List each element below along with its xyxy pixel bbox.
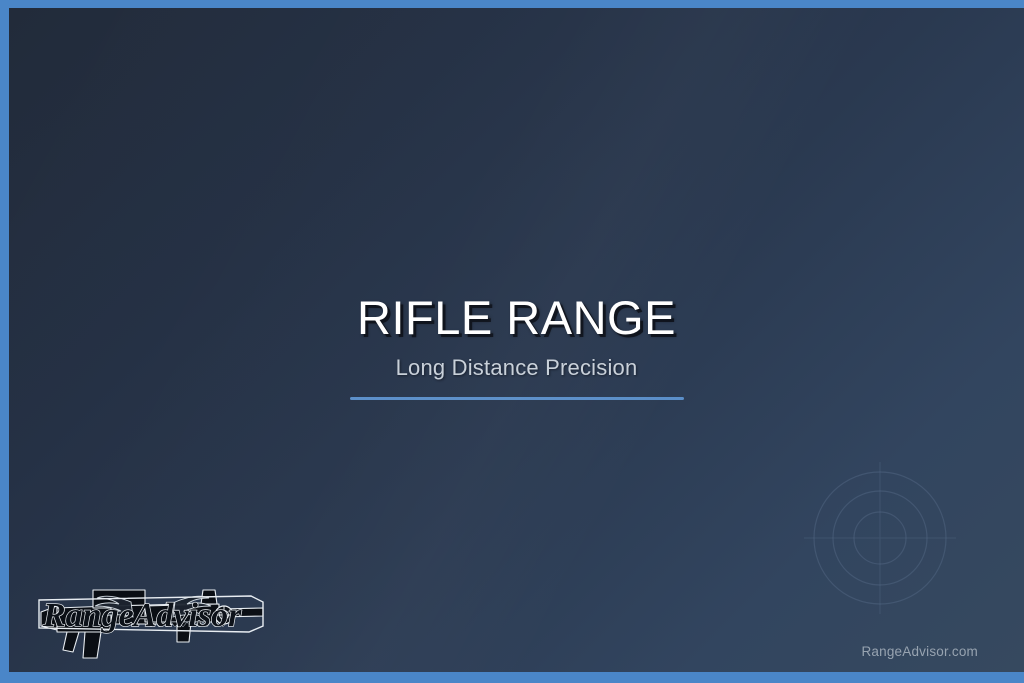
slide-canvas: RIFLE RANGE Long Distance Precision bbox=[9, 8, 1024, 672]
page-title: RIFLE RANGE bbox=[9, 293, 1024, 343]
presentation-slide: RIFLE RANGE Long Distance Precision bbox=[0, 0, 1024, 683]
footer-url: RangeAdvisor.com bbox=[861, 644, 978, 659]
page-subtitle: Long Distance Precision bbox=[9, 355, 1024, 381]
title-block: RIFLE RANGE Long Distance Precision bbox=[9, 293, 1024, 400]
crosshair-target-icon bbox=[804, 462, 956, 614]
rifle-logo-icon: RangeAdvisor bbox=[27, 566, 279, 664]
logo-wordmark: RangeAdvisor bbox=[42, 597, 242, 634]
title-divider bbox=[350, 397, 684, 400]
